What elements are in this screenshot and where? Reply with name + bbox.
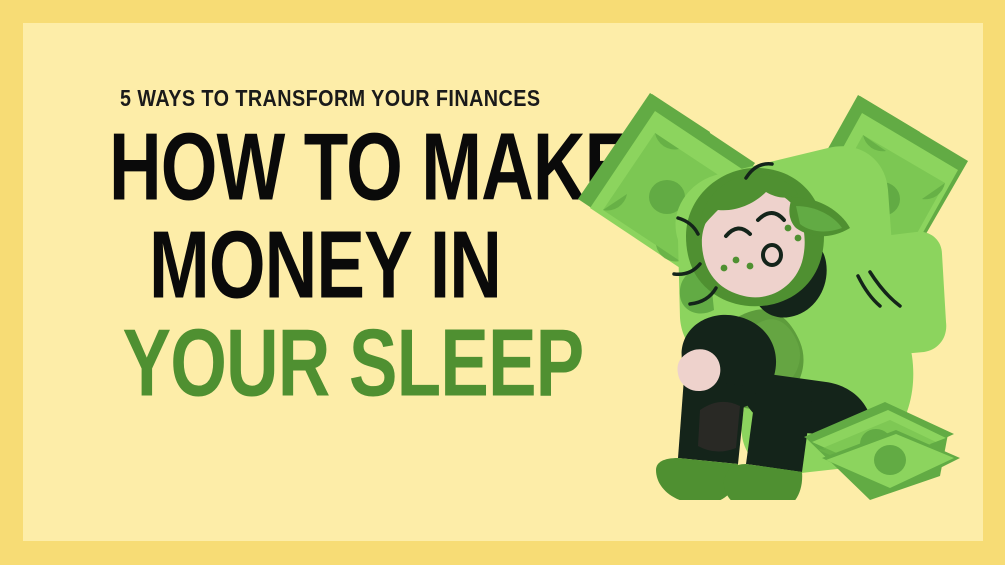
illustration-sleeping-with-money [560, 60, 990, 500]
headline-line-1: HOW TO MAKE [100, 123, 505, 215]
freckle-icon [795, 235, 802, 242]
text-block: 5 WAYS TO TRANSFORM YOUR FINANCES HOW TO… [100, 85, 550, 403]
freckle-icon [785, 225, 792, 232]
freckle-icon [747, 263, 754, 270]
poster-canvas: 5 WAYS TO TRANSFORM YOUR FINANCES HOW TO… [0, 0, 1005, 565]
freckle-icon [733, 257, 740, 264]
headline-line-2: MONEY IN [123, 221, 528, 313]
freckle-icon [721, 265, 728, 272]
pillow-small-icon [828, 232, 947, 359]
kicker-text: 5 WAYS TO TRANSFORM YOUR FINANCES [120, 85, 490, 112]
headline-line-3: YOUR SLEEP [123, 319, 528, 411]
